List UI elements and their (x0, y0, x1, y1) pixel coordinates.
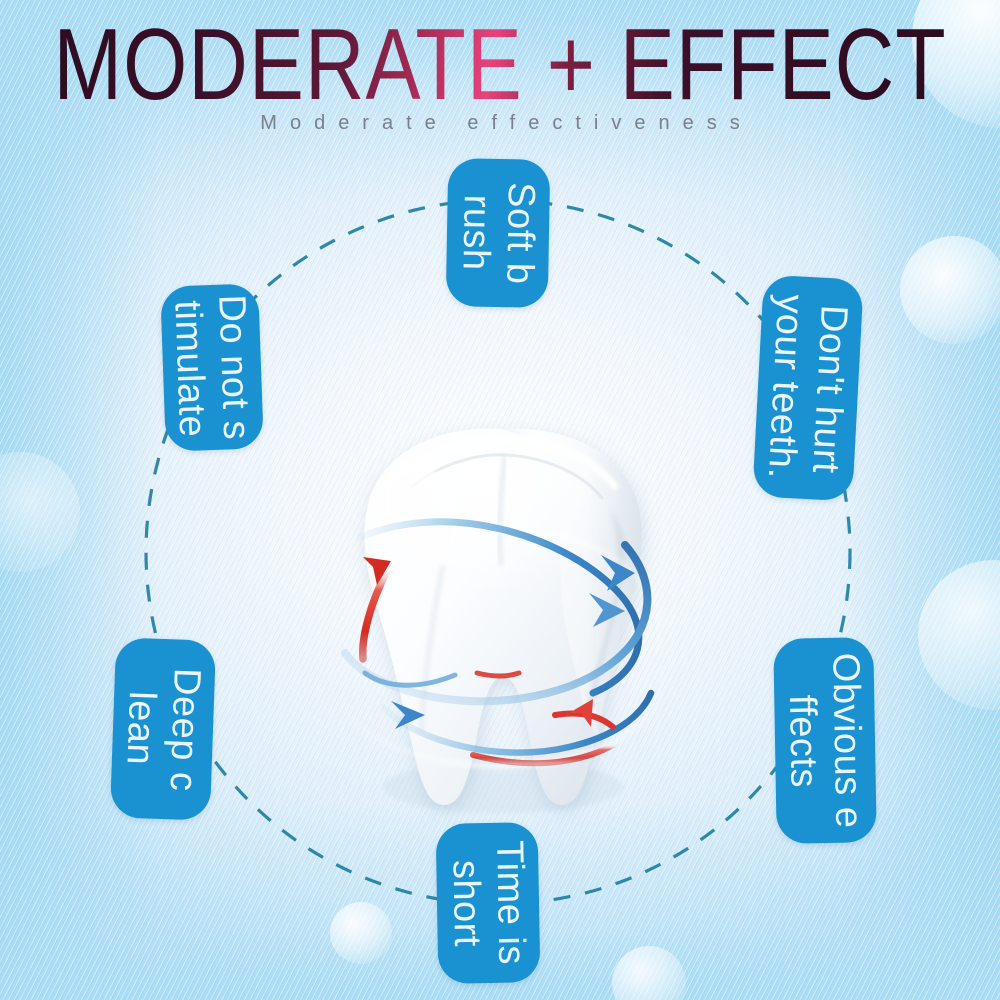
callout-text: Do not s timulate (165, 293, 258, 442)
callout-obvious-effects[interactable]: Obvious e ffects (773, 637, 877, 844)
callout-text-wrap: Deep c lean (110, 637, 216, 820)
page-subtitle: Moderate effectiveness (0, 112, 1000, 135)
callout-line-1: Time is (487, 840, 533, 965)
page-title: MODERATE + EFFECT (20, 14, 980, 115)
callout-text: Don't hurt your teeth. (759, 293, 857, 482)
callout-line-2: ffects (779, 653, 826, 829)
callout-line-1: Obvious e (823, 652, 870, 828)
callout-text-wrap: Don't hurt your teeth. (752, 275, 863, 502)
callout-line-2: short (443, 841, 489, 966)
bubble-left-mid (0, 452, 80, 572)
header: MODERATE + EFFECT Moderate effectiveness (0, 0, 1000, 150)
callout-text-wrap: Obvious e ffects (773, 637, 877, 844)
callout-text-wrap: Time is short (436, 822, 541, 984)
callout-soft-brush[interactable]: Soft b rush (446, 158, 551, 308)
callout-text: Obvious e ffects (779, 652, 870, 829)
callout-time-is-short[interactable]: Time is short (436, 822, 541, 984)
page-title-text: MODERATE + EFFECT (53, 8, 946, 121)
callout-line-2: lean (117, 666, 165, 791)
callout-deep-clean[interactable]: Deep c lean (110, 637, 216, 820)
callout-line-2: rush (453, 181, 499, 284)
bubble-right-upper (900, 236, 1000, 344)
callout-text: Deep c lean (117, 666, 209, 792)
callout-line-2: timulate (165, 295, 214, 442)
callout-text-wrap: Do not s timulate (160, 283, 264, 451)
callout-text: Soft b rush (453, 181, 543, 285)
callout-text: Time is short (443, 840, 533, 966)
callout-line-1: Don't hurt (803, 296, 857, 483)
callout-line-1: Deep c (161, 667, 209, 792)
infographic-canvas: MODERATE + EFFECT Moderate effectiveness (0, 0, 1000, 1000)
callout-dont-hurt-your-teeth[interactable]: Don't hurt your teeth. (752, 275, 863, 502)
tooth-graphic (325, 415, 685, 825)
callout-line-1: Do not s (209, 293, 258, 440)
callout-line-1: Soft b (497, 182, 543, 285)
bubble-bottom-center (330, 902, 392, 964)
bubble-bottom-right (612, 946, 686, 1000)
callout-do-not-stimulate[interactable]: Do not s timulate (160, 283, 264, 451)
callout-text-wrap: Soft b rush (446, 158, 551, 308)
tooth-illustration (325, 415, 685, 825)
bubble-right-lower (918, 560, 1000, 710)
